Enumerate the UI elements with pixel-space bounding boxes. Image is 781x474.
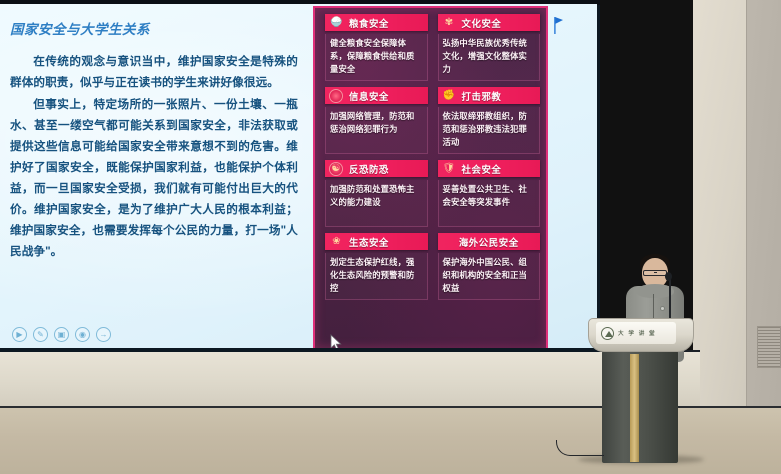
card-title: 生态安全 (349, 235, 389, 249)
card-header: 信息安全 (325, 87, 428, 104)
security-card[interactable]: ✊ 打击邪教 依法取缔邪教组织，防范和惩治邪教违法犯罪活动 (438, 87, 541, 154)
play-icon[interactable]: ▶ (12, 327, 27, 342)
slide-left-text-panel: 国家安全与大学生关系 在传统的观念与意识当中，维护国家安全是特殊的群体的职责，似… (10, 18, 298, 348)
card-text: 健全粮食安全保障体系，保障粮食供给和质量安全 (330, 37, 423, 76)
card-body: 依法取缔邪教组织，防范和惩治邪教违法犯罪活动 (438, 107, 541, 154)
microphone-head (665, 272, 672, 281)
card-header: 🍚 粮食安全 (325, 14, 428, 31)
mouse-arrow-pointer[interactable] (330, 334, 342, 348)
podium-body (602, 351, 678, 463)
card-header: ✾ 文化安全 (438, 14, 541, 31)
card-title: 打击邪教 (462, 89, 502, 103)
card-header: 🛡 社会安全 (438, 160, 541, 177)
seal-stamp-icon (329, 89, 343, 103)
institution-triangle-logo (601, 327, 614, 340)
security-cards-grid: 🍚 粮食安全 健全粮食安全保障体系，保障粮食供给和质量安全 ✾ 文化安全 (325, 14, 540, 300)
podium-cable (556, 440, 604, 456)
card-body: 加强防范和处置恐怖主义的能力建设 (325, 180, 428, 227)
security-card[interactable]: 🛡 社会安全 妥善处置公共卫生、社会安全等突发事件 (438, 160, 541, 227)
slide-control-bar[interactable]: ▶ ✎ ▣ ◉ → (12, 327, 111, 342)
presenter-badge (660, 306, 665, 311)
security-card[interactable]: 信息安全 加强网络管理，防范和惩治网络犯罪行为 (325, 87, 428, 154)
card-header: ❀ 生态安全 (325, 233, 428, 250)
raised-fist-icon: ✊ (441, 88, 458, 103)
card-text: 加强防范和处置恐怖主义的能力建设 (330, 183, 423, 209)
search-icon[interactable]: ◉ (75, 327, 90, 342)
more-icon[interactable]: → (96, 327, 111, 342)
rice-bowl-icon: 🍚 (328, 15, 345, 30)
card-text: 妥善处置公共卫生、社会安全等突发事件 (443, 183, 536, 209)
lecture-hall-scene: 国家安全与大学生关系 在传统的观念与意识当中，维护国家安全是特殊的群体的职责，似… (0, 0, 781, 474)
card-title: 信息安全 (349, 89, 389, 103)
card-text: 依法取缔邪教组织，防范和惩治邪教违法犯罪活动 (443, 110, 536, 149)
slide-right-cards-panel: 🍚 粮食安全 健全粮食安全保障体系，保障粮食供给和质量安全 ✾ 文化安全 (313, 6, 548, 348)
podium-front-plate: 大 学 讲 堂 (596, 322, 676, 344)
culture-knot-icon: ✾ (441, 15, 458, 30)
projection-screen-frame: 国家安全与大学生关系 在传统的观念与意识当中，维护国家安全是特殊的群体的职责，似… (0, 0, 600, 352)
podium-top: 大 学 讲 堂 (588, 318, 694, 352)
card-title: 海外公民安全 (459, 235, 519, 249)
security-card[interactable]: ❀ 生态安全 划定生态保护红线，强化生态风险的预警和防控 (325, 233, 428, 300)
security-card[interactable]: 🍚 粮食安全 健全粮食安全保障体系，保障粮食供给和质量安全 (325, 14, 428, 81)
slide-title: 国家安全与大学生关系 (10, 18, 298, 38)
card-body: 保护海外中国公民、组织和机构的安全和正当权益 (438, 253, 541, 300)
hands-leaf-icon: ❀ (328, 234, 345, 249)
slide-paragraph: 在传统的观念与意识当中，维护国家安全是特殊的群体的职责，似乎与正在读书的学生来讲… (10, 51, 298, 93)
card-header: ✊ 打击邪教 (438, 87, 541, 104)
wall-vent-grille (757, 326, 781, 368)
slide-paragraph: 但事实上，特定场所的一张照片、一份土壤、一瓶水、甚至一缕空气都可能关系到国家安全… (10, 94, 298, 262)
blue-flag-pointer[interactable] (548, 14, 564, 38)
slide-body: 在传统的观念与意识当中，维护国家安全是特殊的群体的职责，似乎与正在读书的学生来讲… (10, 51, 298, 262)
card-header: 海外公民安全 (438, 233, 541, 250)
projection-screen: 国家安全与大学生关系 在传统的观念与意识当中，维护国家安全是特殊的群体的职责，似… (0, 4, 597, 348)
card-title: 粮食安全 (349, 16, 389, 30)
card-title: 社会安全 (462, 162, 502, 176)
security-card[interactable]: ✾ 文化安全 弘扬中华民族优秀传统文化，增强文化整体实力 (438, 14, 541, 81)
presenter-glasses (643, 270, 667, 276)
card-text: 弘扬中华民族优秀传统文化，增强文化整体实力 (443, 37, 536, 76)
card-body: 弘扬中华民族优秀传统文化，增强文化整体实力 (438, 34, 541, 81)
pen-icon[interactable]: ✎ (33, 327, 48, 342)
card-body: 健全粮食安全保障体系，保障粮食供给和质量安全 (325, 34, 428, 81)
right-wall-panel (693, 0, 747, 420)
card-body: 妥善处置公共卫生、社会安全等突发事件 (438, 180, 541, 227)
shield-swirl-icon: ☯ (329, 162, 343, 176)
card-text: 加强网络管理，防范和惩治网络犯罪行为 (330, 110, 423, 136)
stamp-icon[interactable]: ▣ (54, 327, 69, 342)
card-body: 加强网络管理，防范和惩治网络犯罪行为 (325, 107, 428, 154)
card-header: ☯ 反恐防恐 (325, 160, 428, 177)
card-title: 文化安全 (462, 16, 502, 30)
card-title: 反恐防恐 (349, 162, 389, 176)
podium-label: 大 学 讲 堂 (618, 329, 656, 337)
card-text: 划定生态保护红线，强化生态风险的预警和防控 (330, 256, 423, 295)
security-card[interactable]: ☯ 反恐防恐 加强防范和处置恐怖主义的能力建设 (325, 160, 428, 227)
police-emblem-icon: 🛡 (441, 161, 458, 176)
card-body: 划定生态保护红线，强化生态风险的预警和防控 (325, 253, 428, 300)
security-card[interactable]: 海外公民安全 保护海外中国公民、组织和机构的安全和正当权益 (438, 233, 541, 300)
podium-gold-stripe (630, 354, 639, 462)
card-text: 保护海外中国公民、组织和机构的安全和正当权益 (443, 256, 536, 295)
